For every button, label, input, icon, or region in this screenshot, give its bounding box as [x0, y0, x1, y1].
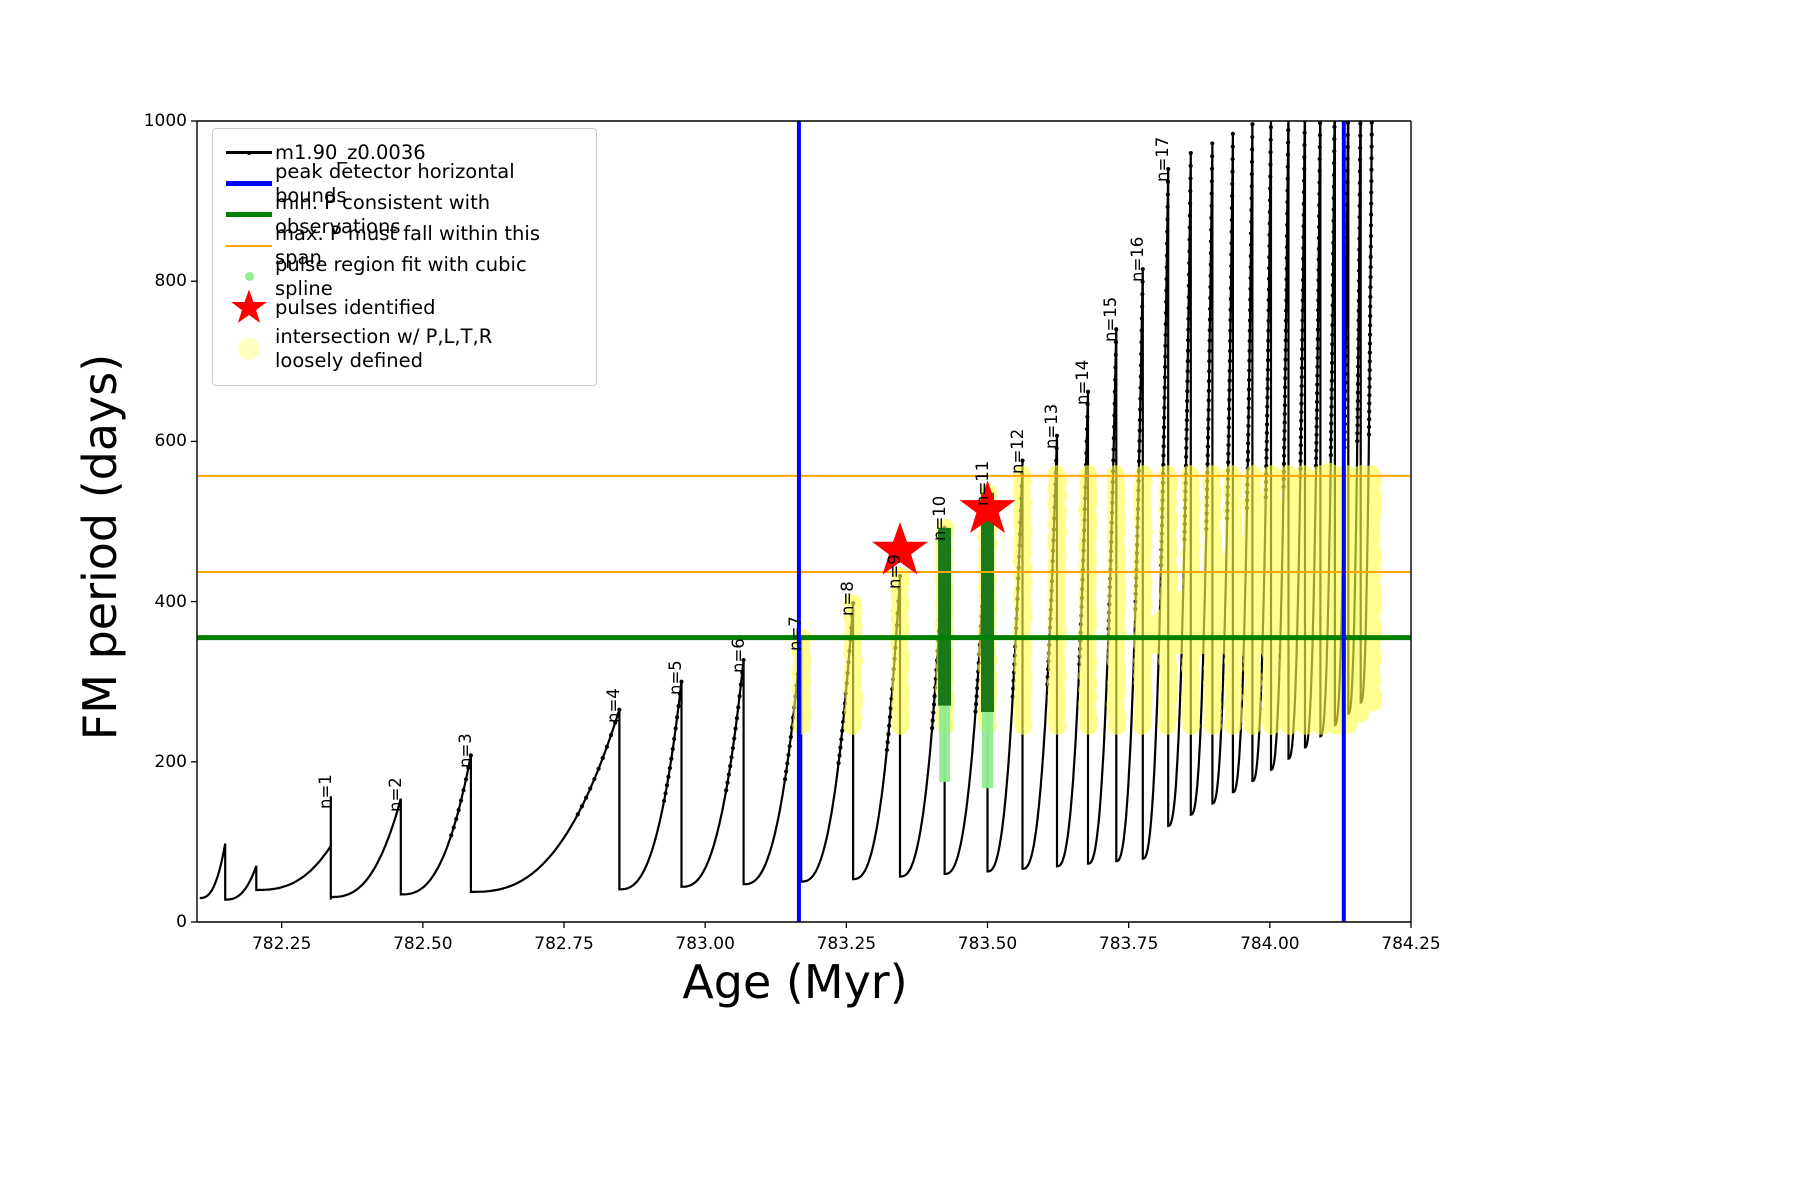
- legend: m1.90_z0.0036 peak detector horizontal b…: [212, 128, 597, 386]
- legend-label-pulses: pulses identified: [275, 296, 436, 320]
- y-tick-label: 1000: [131, 111, 187, 131]
- blue-line-icon: [223, 171, 275, 197]
- pulse-number-label: n=2: [386, 777, 405, 812]
- pulse-number-label: n=17: [1153, 137, 1172, 182]
- y-tick-label: 400: [131, 592, 187, 612]
- green-dot-icon: [223, 264, 275, 290]
- y-tick-label: 800: [131, 271, 187, 291]
- legend-item-spline-fit[interactable]: pulse region fit with cubic spline: [223, 261, 586, 292]
- pulse-number-label: n=16: [1128, 237, 1147, 282]
- x-tick-label: 783.75: [1099, 934, 1158, 954]
- y-tick-label: 200: [131, 752, 187, 772]
- pulse-number-label: n=11: [973, 460, 992, 505]
- pulse-number-label: n=7: [786, 616, 805, 651]
- x-tick-label: 783.00: [675, 934, 734, 954]
- y-tick-label: 0: [131, 912, 187, 932]
- legend-item-intersection[interactable]: intersection w/ P,L,T,R loosely defined: [223, 323, 586, 375]
- pulse-number-label: n=1: [316, 774, 335, 809]
- legend-label-spline-fit: pulse region fit with cubic spline: [275, 253, 586, 301]
- pulse-number-label: n=15: [1101, 297, 1120, 342]
- yellow-dot-icon: [223, 336, 275, 362]
- x-tick-label: 784.00: [1240, 934, 1299, 954]
- orange-line-icon: [223, 233, 275, 259]
- x-tick-label: 782.75: [534, 934, 593, 954]
- pulse-number-label: n=13: [1042, 404, 1061, 449]
- x-tick-label: 782.25: [252, 934, 311, 954]
- green-line-icon: [223, 202, 275, 228]
- pulse-number-label: n=14: [1073, 359, 1092, 404]
- pulse-number-label: n=8: [838, 581, 857, 616]
- x-tick-label: 783.50: [958, 934, 1017, 954]
- pulse-number-label: n=3: [456, 734, 475, 769]
- line-marker-icon: [223, 140, 275, 166]
- x-tick-label: 782.50: [393, 934, 452, 954]
- red-star-icon: [223, 295, 275, 321]
- pulse-number-label: n=6: [729, 638, 748, 673]
- pulse-number-label: n=9: [885, 554, 904, 589]
- pulse-number-label: n=10: [930, 496, 949, 541]
- pulse-number-label: n=5: [666, 660, 685, 695]
- pulse-number-label: n=4: [604, 688, 623, 723]
- legend-label-intersection: intersection w/ P,L,T,R loosely defined: [275, 325, 492, 373]
- figure-canvas: FM period (days) Age (Myr) 782.25782.507…: [0, 0, 1800, 1200]
- x-tick-label: 784.25: [1381, 934, 1440, 954]
- x-tick-label: 783.25: [817, 934, 876, 954]
- y-tick-label: 600: [131, 431, 187, 451]
- pulse-number-label: n=12: [1008, 428, 1027, 473]
